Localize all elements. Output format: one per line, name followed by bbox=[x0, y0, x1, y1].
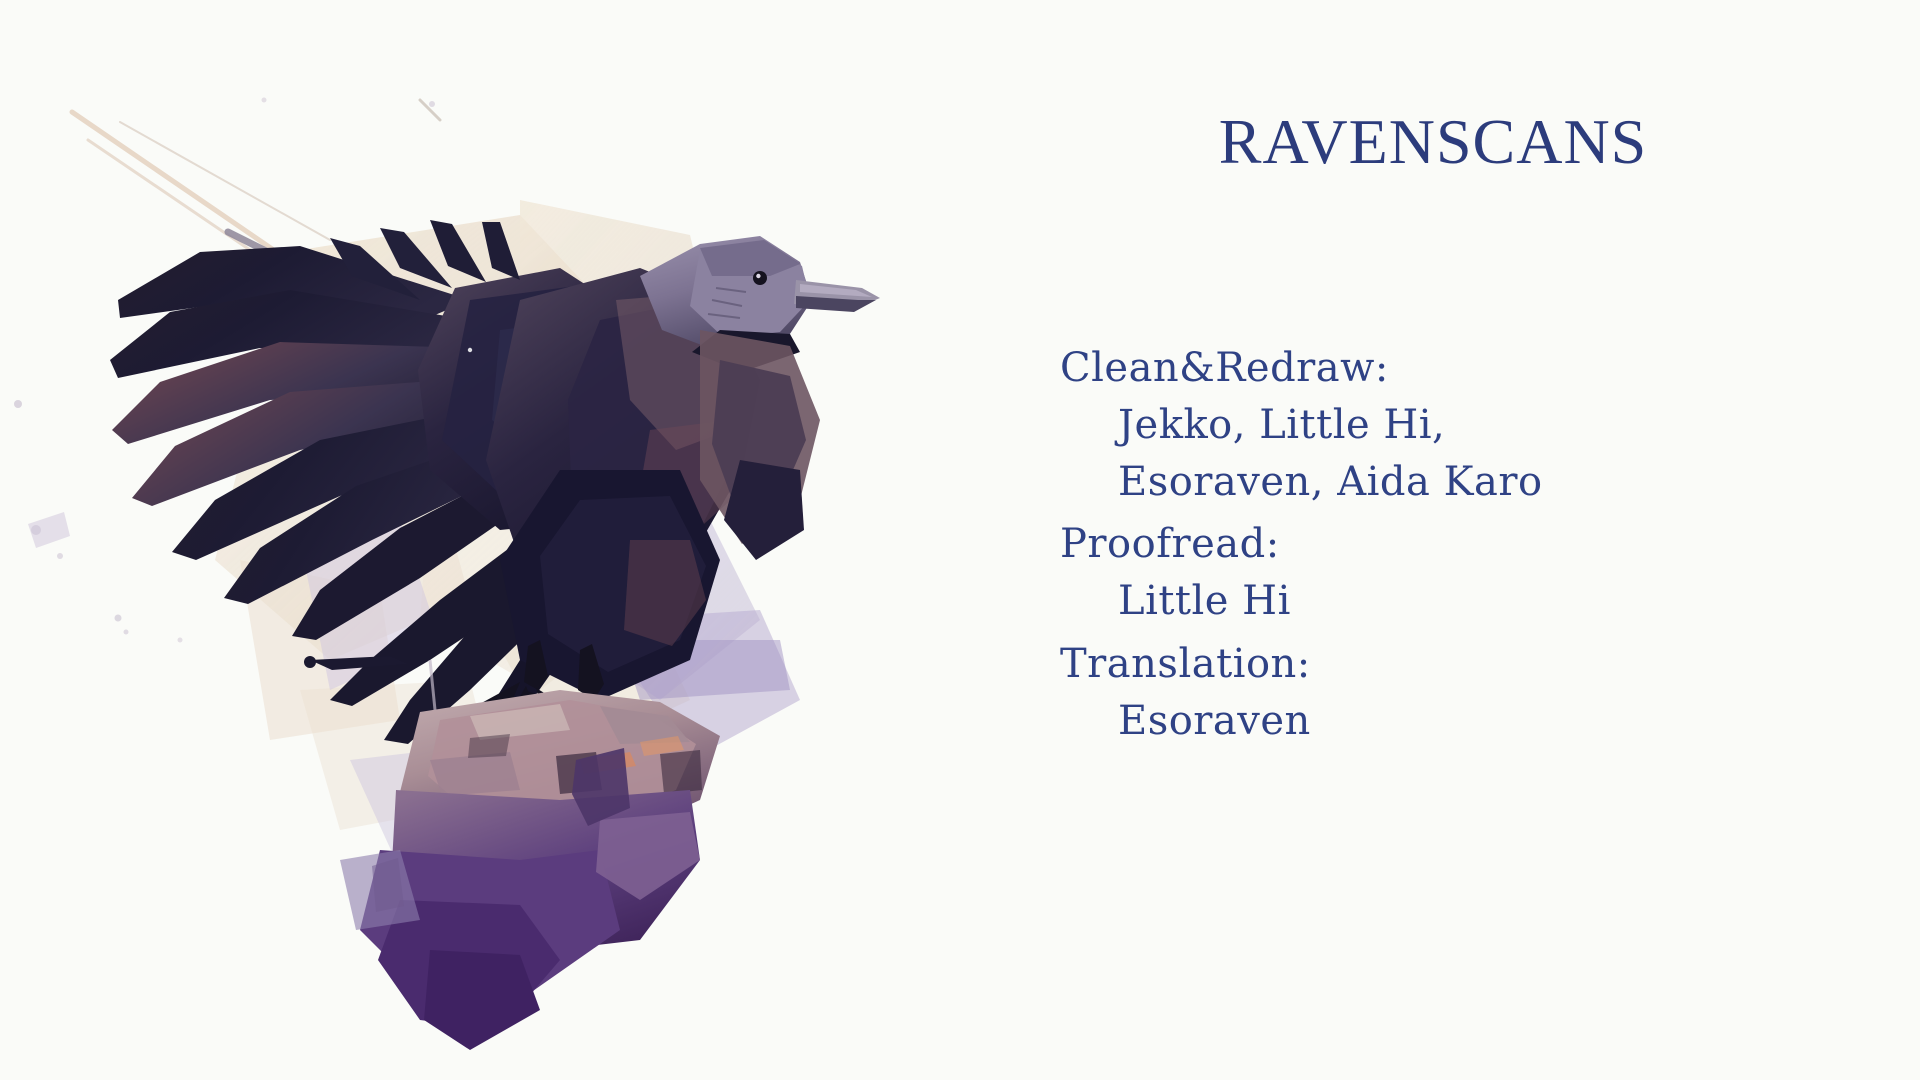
credits-page: RavenScans Clean&Redraw: Jekko, Little H… bbox=[0, 0, 1920, 1080]
credit-role-translation: Translation: bbox=[1060, 636, 1880, 693]
credit-block-proofread: Proofread: Little Hi bbox=[1060, 516, 1880, 630]
credit-role-clean-redraw: Clean&Redraw: bbox=[1060, 340, 1880, 397]
credit-role-proofread: Proofread: bbox=[1060, 516, 1880, 573]
credit-name-clean-redraw-1: Jekko, Little Hi, bbox=[1118, 397, 1880, 454]
credit-name-translation-1: Esoraven bbox=[1118, 693, 1880, 750]
brand-title: RavenScans bbox=[1018, 86, 1848, 178]
credit-block-clean-redraw: Clean&Redraw: Jekko, Little Hi, Esoraven… bbox=[1060, 340, 1880, 510]
credits-column: RavenScans Clean&Redraw: Jekko, Little H… bbox=[1000, 0, 1920, 1080]
credit-block-translation: Translation: Esoraven bbox=[1060, 636, 1880, 750]
credit-name-proofread-1: Little Hi bbox=[1118, 573, 1880, 630]
raven-wing-right bbox=[700, 330, 820, 560]
raven-illustration bbox=[0, 0, 1000, 1080]
rock-base-purple bbox=[340, 790, 700, 1050]
credit-name-clean-redraw-2: Esoraven, Aida Karo bbox=[1118, 454, 1880, 511]
credits-list: Clean&Redraw: Jekko, Little Hi, Esoraven… bbox=[1060, 340, 1880, 756]
